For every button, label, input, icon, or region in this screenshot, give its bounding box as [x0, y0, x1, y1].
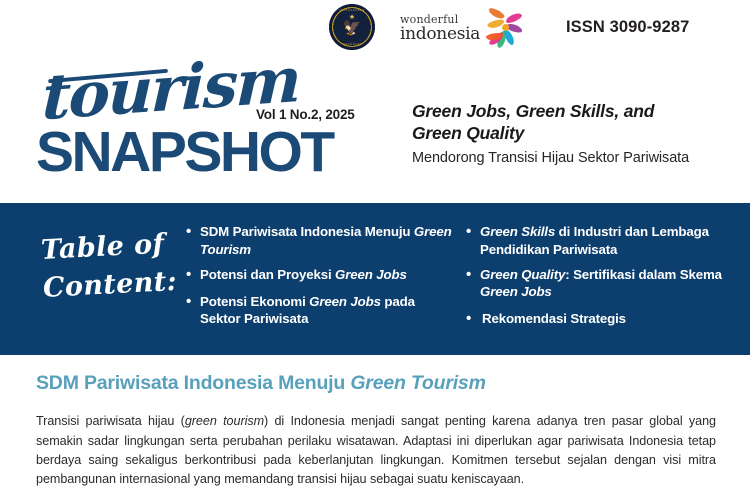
plain-text: Transisi pariwisata hijau ( [36, 414, 185, 428]
toc-item-label: Green Skills di Industri dan Lembaga Pen… [480, 223, 742, 259]
issn-number: ISSN 3090-9287 [566, 18, 689, 37]
emphasis-text: Green Jobs [335, 267, 407, 282]
toc-item-label: SDM Pariwisata Indonesia Menuju Green To… [200, 223, 454, 259]
wonderful-text: wonderful [400, 14, 458, 25]
emblem-garuda-bird-icon: 🦅 [343, 20, 362, 35]
emphasis-text: Green Jobs [309, 294, 381, 309]
emphasis-text: Green Tourism [350, 372, 485, 394]
bullet-icon: • [186, 266, 200, 284]
toc-item[interactable]: •SDM Pariwisata Indonesia Menuju Green T… [186, 223, 454, 259]
ministry-garuda-emblem-icon: ••••••••••••••• ★ 🦅 ••••••••••• [329, 4, 375, 50]
plain-text: Rekomendasi Strategis [482, 311, 626, 326]
toc-column-left: •SDM Pariwisata Indonesia Menuju Green T… [186, 223, 454, 335]
table-of-content-label: Table of Content: [40, 224, 194, 308]
emblem-ring-text-top: ••••••••••••••• [329, 8, 375, 12]
issue-title-block: Green Jobs, Green Skills, and Green Qual… [412, 100, 742, 166]
toc-item[interactable]: •Green Quality: Sertifikasi dalam Skema … [466, 266, 742, 302]
logo-row: ••••••••••••••• ★ 🦅 ••••••••••• wonderfu… [0, 0, 750, 58]
emphasis-text: Green Jobs [480, 284, 552, 299]
article-heading: SDM Pariwisata Indonesia Menuju Green To… [36, 372, 716, 395]
article-body-paragraph: Transisi pariwisata hijau (green tourism… [36, 412, 716, 489]
bullet-icon: • [186, 223, 200, 241]
emphasis-text: green tourism [185, 414, 264, 428]
volume-issue-label: Vol 1 No.2, 2025 [256, 107, 355, 122]
toc-item-label: Rekomendasi Strategis [482, 310, 742, 328]
issue-title-line-1: Green Jobs, Green Skills, and [412, 100, 742, 122]
wonderful-indonesia-logo: wonderful indonesia [400, 8, 528, 48]
toc-item-label: Green Quality: Sertifikasi dalam Skema G… [480, 266, 742, 302]
plain-text: Potensi dan Proyeksi [200, 267, 335, 282]
plain-text: Potensi Ekonomi [200, 294, 309, 309]
issue-title-line-2: Green Quality [412, 122, 742, 144]
emphasis-text: Green Quality [480, 267, 565, 282]
toc-label-line-2: Content: [42, 262, 194, 308]
bullet-icon: • [466, 310, 482, 328]
indonesia-text: indonesia [400, 26, 480, 43]
bullet-icon: • [466, 223, 480, 241]
bullet-icon: • [186, 293, 200, 311]
pinwheel-bird-icon [482, 8, 528, 48]
toc-item[interactable]: •Potensi Ekonomi Green Jobs pada Sektor … [186, 293, 454, 329]
wonderful-indonesia-wordmark: wonderful indonesia [400, 14, 480, 43]
masthead: tourism SNAPSHOT [36, 52, 376, 192]
plain-text: SDM Pariwisata Indonesia Menuju [200, 224, 414, 239]
emphasis-text: Green Skills [480, 224, 555, 239]
toc-item[interactable]: •Rekomendasi Strategis [466, 310, 742, 328]
toc-item-label: Potensi dan Proyeksi Green Jobs [200, 266, 454, 284]
toc-item[interactable]: •Potensi dan Proyeksi Green Jobs [186, 266, 454, 284]
article-section: SDM Pariwisata Indonesia Menuju Green To… [36, 372, 716, 489]
emblem-ring-text-bottom: ••••••••••• [329, 42, 375, 46]
plain-text: : Sertifikasi dalam Skema [565, 267, 722, 282]
plain-text: SDM Pariwisata Indonesia Menuju [36, 372, 350, 394]
issue-subtitle: Mendorong Transisi Hijau Sektor Pariwisa… [412, 150, 742, 166]
toc-item[interactable]: •Green Skills di Industri dan Lembaga Pe… [466, 223, 742, 259]
toc-column-right: •Green Skills di Industri dan Lembaga Pe… [466, 223, 742, 335]
bullet-icon: • [466, 266, 480, 284]
masthead-block-word: SNAPSHOT [36, 124, 333, 181]
toc-item-label: Potensi Ekonomi Green Jobs pada Sektor P… [200, 293, 454, 329]
newsletter-page: ••••••••••••••• ★ 🦅 ••••••••••• wonderfu… [0, 0, 750, 501]
